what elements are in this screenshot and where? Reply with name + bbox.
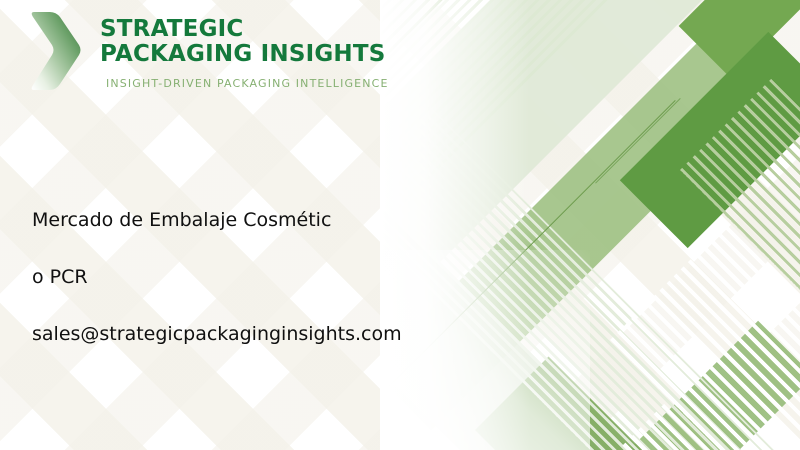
logo-name-line-2: PACKAGING INSIGHTS bbox=[100, 42, 389, 67]
logo-name-line-1: STRATEGIC bbox=[100, 17, 389, 42]
title-line-2: o PCR bbox=[32, 265, 432, 289]
slide-canvas: STRATEGIC PACKAGING INSIGHTS INSIGHT-DRI… bbox=[0, 0, 800, 450]
title-line-1: Mercado de Embalaje Cosmétic bbox=[32, 208, 432, 232]
slide-copy: Mercado de Embalaje Cosmétic o PCR sales… bbox=[32, 208, 432, 346]
logo-tagline: INSIGHT-DRIVEN PACKAGING INTELLIGENCE bbox=[106, 77, 389, 90]
contact-email: sales@strategicpackaginginsights.com bbox=[32, 322, 432, 346]
decorative-artwork bbox=[380, 0, 800, 450]
logo-wordmark: STRATEGIC PACKAGING INSIGHTS INSIGHT-DRI… bbox=[100, 8, 389, 90]
chevron-logo-mark bbox=[30, 10, 82, 92]
brand-logo: STRATEGIC PACKAGING INSIGHTS INSIGHT-DRI… bbox=[30, 8, 389, 92]
